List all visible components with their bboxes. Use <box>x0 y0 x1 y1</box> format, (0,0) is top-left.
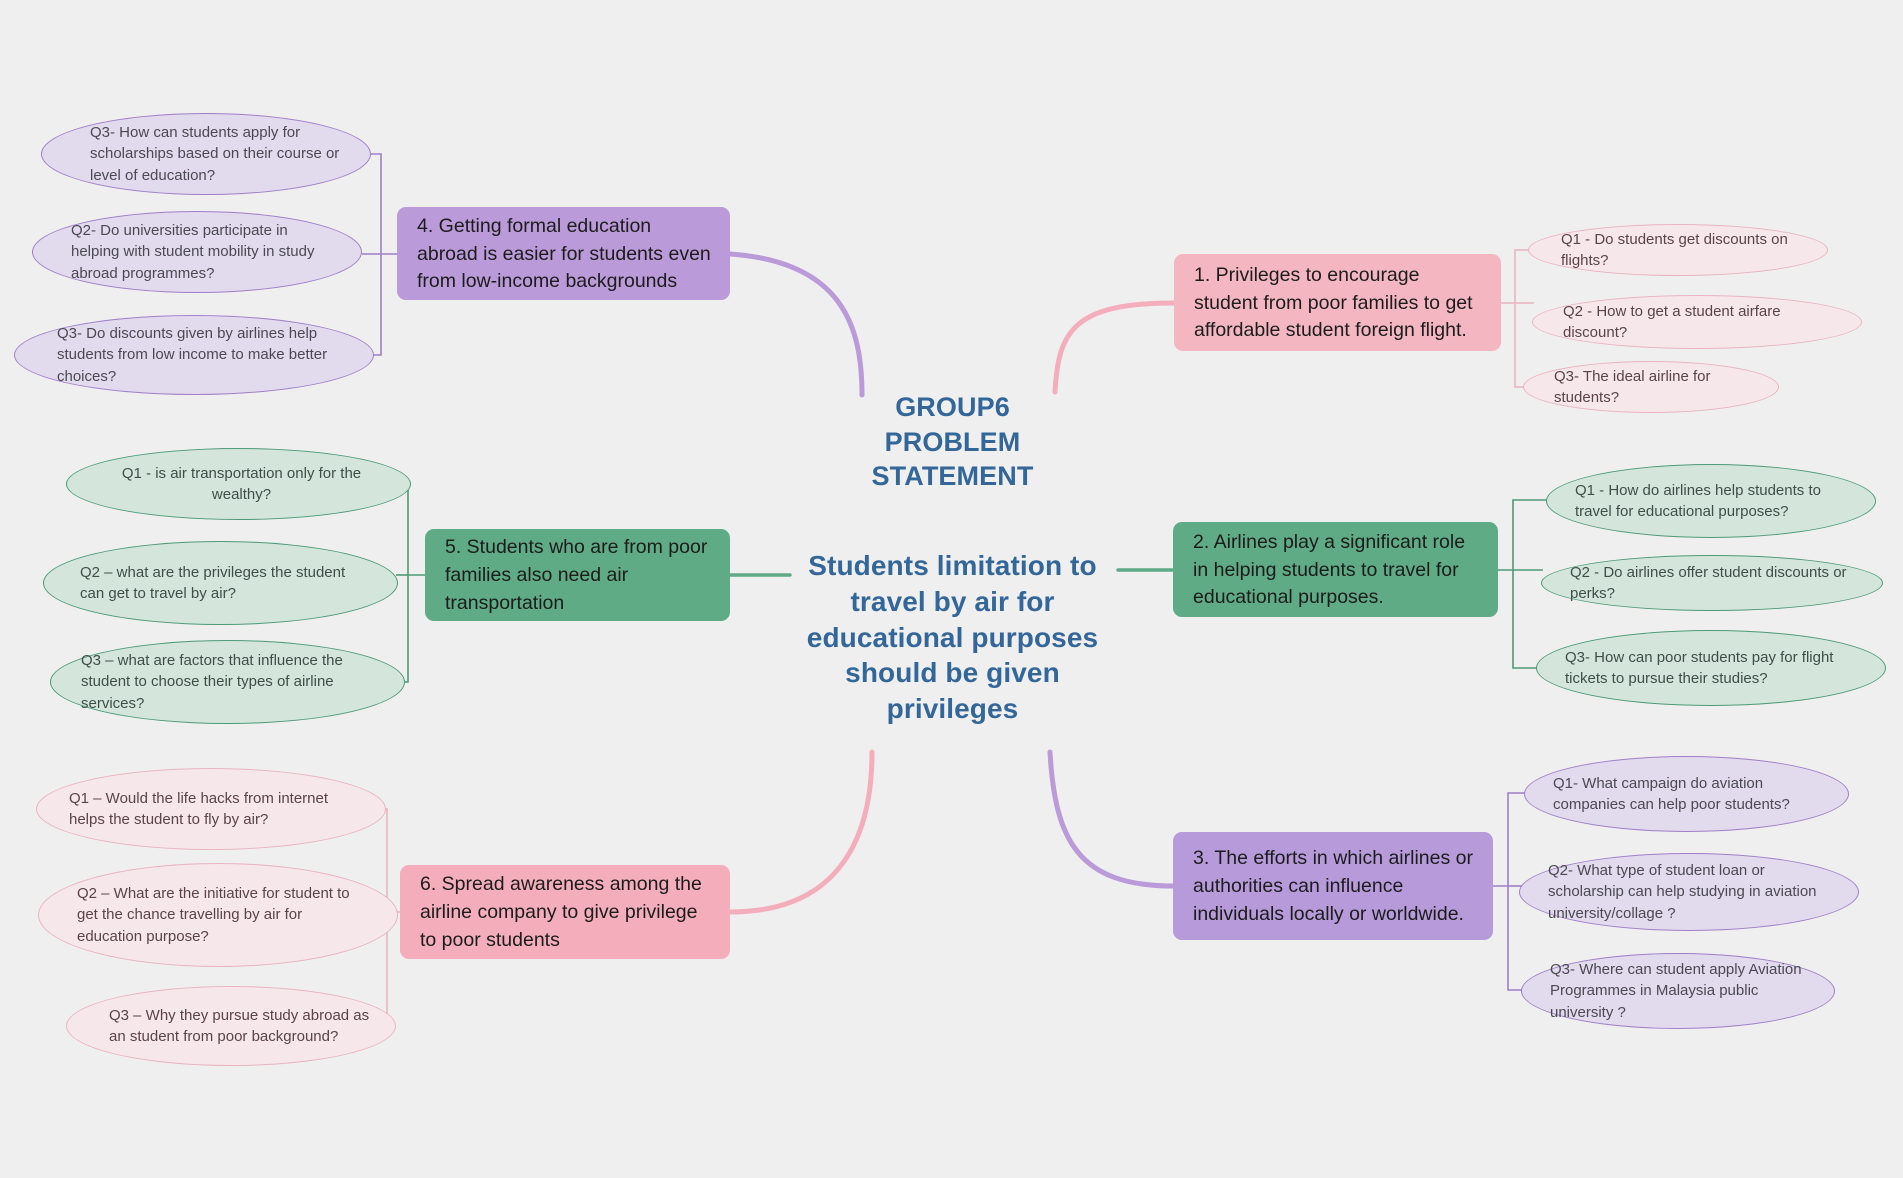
question-text: Q2 - How to get a student airfare discou… <box>1563 301 1839 344</box>
question-ellipse[interactable]: Q3- How can poor students pay for flight… <box>1536 630 1886 706</box>
center-heading-line-1: GROUP6 <box>800 390 1105 425</box>
question-ellipse[interactable]: Q1 - Do students get discounts on flight… <box>1528 224 1828 276</box>
question-text: Q3 – Why they pursue study abroad as an … <box>109 1005 373 1048</box>
branch-node-3[interactable]: 3. The efforts in which airlines or auth… <box>1173 832 1493 940</box>
question-text: Q1 - Do students get discounts on flight… <box>1561 229 1805 272</box>
question-ellipse[interactable]: Q3- Do discounts given by airlines help … <box>14 315 374 395</box>
mindmap-canvas: GROUP6 PROBLEM STATEMENT Students limita… <box>0 0 1903 1178</box>
question-ellipse[interactable]: Q3 – Why they pursue study abroad as an … <box>66 986 396 1066</box>
question-text: Q3- Do discounts given by airlines help … <box>57 323 347 387</box>
question-ellipse[interactable]: Q1- What campaign do aviation companies … <box>1524 756 1849 832</box>
question-text: Q2- Do universities participate in helpi… <box>71 220 337 284</box>
question-text: Q1 - is air transportation only for the … <box>99 463 384 506</box>
question-ellipse[interactable]: Q2 – What are the initiative for student… <box>38 863 398 967</box>
question-text: Q1 – Would the life hacks from internet … <box>69 788 359 831</box>
branch-node-1-label: 1. Privileges to encourage student from … <box>1194 262 1483 345</box>
branch-node-4[interactable]: 4. Getting formal education abroad is ea… <box>397 207 730 300</box>
branch-node-1[interactable]: 1. Privileges to encourage student from … <box>1174 254 1501 351</box>
question-text: Q2 – what are the privileges the student… <box>80 562 371 605</box>
center-heading-line-2: PROBLEM <box>800 425 1105 460</box>
question-ellipse[interactable]: Q3- Where can student apply Aviation Pro… <box>1521 953 1835 1029</box>
question-ellipse[interactable]: Q2- What type of student loan or scholar… <box>1519 853 1859 931</box>
question-text: Q3- The ideal airline for students? <box>1554 366 1758 409</box>
question-text: Q3- Where can student apply Aviation Pro… <box>1550 959 1814 1023</box>
question-ellipse[interactable]: Q3- How can students apply for scholarsh… <box>41 113 371 195</box>
question-text: Q3- How can students apply for scholarsh… <box>90 122 342 186</box>
question-ellipse[interactable]: Q1 - How do airlines help students to tr… <box>1546 464 1876 538</box>
branch-node-5-label: 5. Students who are from poor families a… <box>445 534 712 617</box>
question-text: Q2 – What are the initiative for student… <box>77 883 371 947</box>
question-ellipse[interactable]: Q2 – what are the privileges the student… <box>43 541 398 625</box>
branch-node-6[interactable]: 6. Spread awareness among the airline co… <box>400 865 730 959</box>
branch-node-5[interactable]: 5. Students who are from poor families a… <box>425 529 730 621</box>
question-ellipse[interactable]: Q2 - Do airlines offer student discounts… <box>1541 555 1883 611</box>
question-ellipse[interactable]: Q2- Do universities participate in helpi… <box>32 211 362 293</box>
question-text: Q1- What campaign do aviation companies … <box>1553 773 1826 816</box>
question-text: Q2 - Do airlines offer student discounts… <box>1570 562 1860 605</box>
center-heading: GROUP6 PROBLEM STATEMENT <box>800 390 1105 494</box>
question-text: Q3- How can poor students pay for flight… <box>1565 647 1865 690</box>
question-ellipse[interactable]: Q1 – Would the life hacks from internet … <box>36 768 386 850</box>
center-problem-statement: Students limitation to travel by air for… <box>780 548 1125 727</box>
branch-node-4-label: 4. Getting formal education abroad is ea… <box>417 213 712 296</box>
question-text: Q1 - How do airlines help students to tr… <box>1575 480 1853 523</box>
center-heading-line-3: STATEMENT <box>800 459 1105 494</box>
question-text: Q2- What type of student loan or scholar… <box>1548 860 1838 924</box>
question-ellipse[interactable]: Q3 – what are factors that influence the… <box>50 640 405 724</box>
question-ellipse[interactable]: Q1 - is air transportation only for the … <box>66 448 411 520</box>
branch-node-2[interactable]: 2. Airlines play a significant role in h… <box>1173 522 1498 617</box>
question-text: Q3 – what are factors that influence the… <box>81 650 380 714</box>
branch-node-3-label: 3. The efforts in which airlines or auth… <box>1193 845 1475 928</box>
branch-node-6-label: 6. Spread awareness among the airline co… <box>420 871 712 954</box>
question-ellipse[interactable]: Q3- The ideal airline for students? <box>1523 361 1779 413</box>
question-ellipse[interactable]: Q2 - How to get a student airfare discou… <box>1532 295 1862 349</box>
branch-node-2-label: 2. Airlines play a significant role in h… <box>1193 529 1480 612</box>
